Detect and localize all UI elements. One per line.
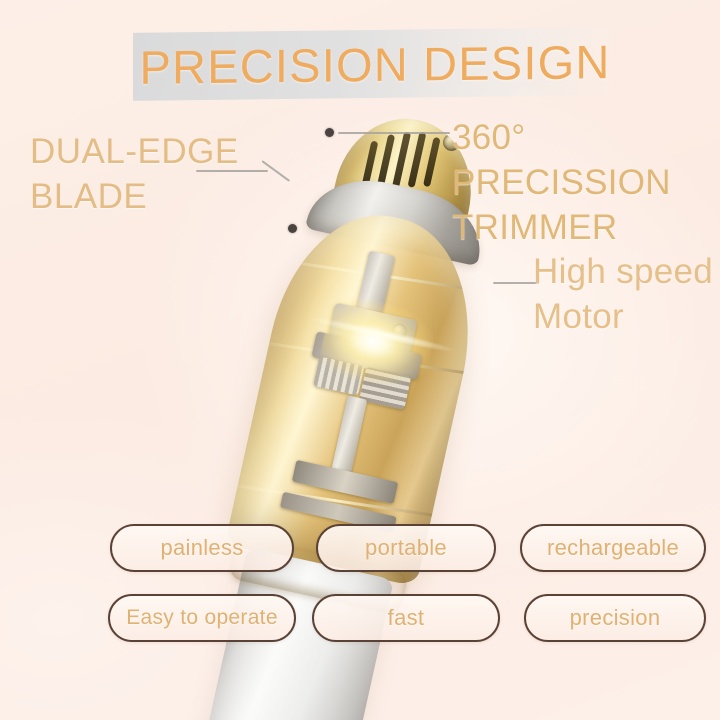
feature-pill-easy-to-operate[interactable]: Easy to operate <box>108 594 296 642</box>
blade-slot-icon <box>423 137 441 187</box>
product-infographic: PRECISION DESIGN <box>0 0 720 720</box>
feature-pill-rechargeable[interactable]: rechargeable <box>520 524 706 572</box>
callout-precision-trimmer: 360° PRECISSION TRIMMER <box>452 116 720 250</box>
leader-dot-trimmer <box>325 128 334 137</box>
leader-dot-blade <box>288 224 297 233</box>
feature-pill-precision[interactable]: precision <box>524 594 706 642</box>
feature-pill-painless[interactable]: painless <box>110 524 294 572</box>
feature-pill-portable[interactable]: portable <box>316 524 496 572</box>
callout-dual-edge-blade: DUAL-EDGE BLADE <box>30 130 239 220</box>
feature-pill-fast[interactable]: fast <box>312 594 500 642</box>
leader-line-trimmer <box>338 132 450 134</box>
callout-high-speed-motor: High speed Motor <box>533 250 713 340</box>
page-title: PRECISION DESIGN <box>140 29 610 99</box>
